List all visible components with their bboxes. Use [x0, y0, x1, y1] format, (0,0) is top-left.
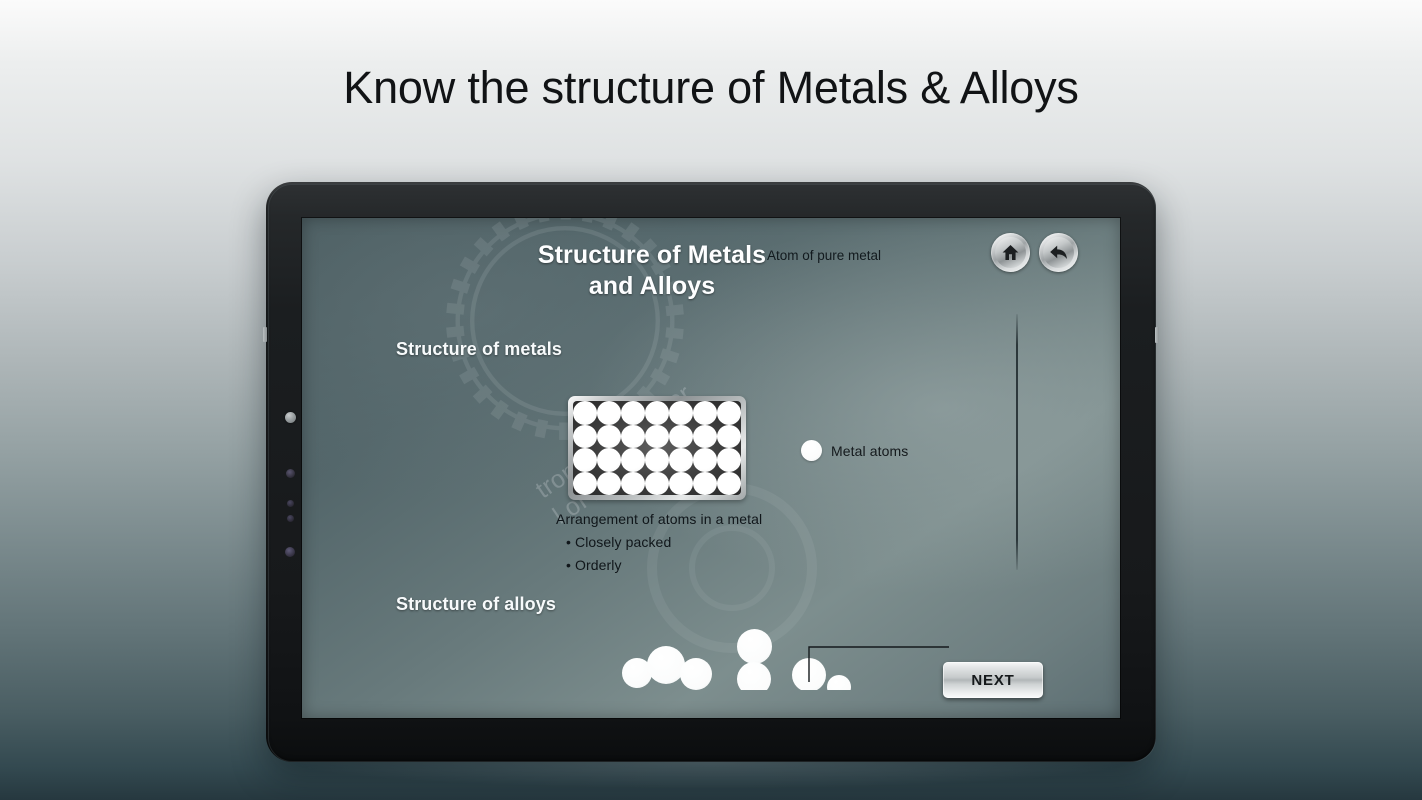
sensor-icon: [287, 500, 294, 507]
header-button-group: [991, 233, 1078, 272]
volume-button-right[interactable]: [1155, 327, 1159, 343]
volume-button-left[interactable]: [263, 327, 267, 342]
caption-bullet: • Closely packed: [556, 531, 762, 554]
metal-atom: [693, 401, 717, 425]
metal-atom: [573, 448, 597, 472]
metal-atom: [693, 425, 717, 449]
sensor-icon: [287, 515, 294, 522]
tablet-device: trons from outer l of metal atoms Struct…: [266, 182, 1156, 762]
scrollbar[interactable]: [1016, 314, 1018, 570]
tablet-reflection: [300, 762, 1120, 788]
next-button-label: NEXT: [971, 672, 1014, 689]
metal-atom: [621, 472, 645, 496]
screen-title-line-2: and Alloys: [302, 271, 1002, 302]
back-button[interactable]: [1039, 233, 1078, 272]
lattice-caption: Arrangement of atoms in a metal • Closel…: [556, 508, 762, 577]
back-arrow-icon: [1048, 242, 1069, 263]
metal-atom: [645, 472, 669, 496]
metal-atom: [645, 425, 669, 449]
page-title: Know the structure of Metals & Alloys: [0, 62, 1422, 114]
callout-label-pure-metal: Atom of pure metal: [767, 248, 881, 263]
alloy-atom: [737, 662, 771, 690]
metal-atom: [717, 425, 741, 449]
alloy-atom: [737, 629, 772, 664]
metal-atom: [621, 401, 645, 425]
metal-atom: [597, 425, 621, 449]
lattice-row: [573, 425, 741, 449]
legend-metal-atoms: Metal atoms: [801, 440, 908, 461]
caption-bullet: • Orderly: [556, 554, 762, 577]
lattice-row: [573, 472, 741, 496]
screen-title: Structure of Metals and Alloys: [302, 240, 1002, 302]
section-heading-alloys: Structure of alloys: [396, 594, 556, 615]
lattice-row: [573, 448, 741, 472]
metal-atom: [573, 401, 597, 425]
metal-atom: [717, 472, 741, 496]
metal-atom: [669, 425, 693, 449]
metal-atom: [717, 401, 741, 425]
home-icon: [1001, 243, 1020, 262]
alloy-structure-diagram: [482, 618, 982, 690]
metal-atom: [621, 448, 645, 472]
metal-atom: [669, 401, 693, 425]
alloy-atom: [647, 646, 685, 684]
lattice-row: [573, 401, 741, 425]
metal-atom: [693, 472, 717, 496]
legend-swatch-icon: [801, 440, 822, 461]
metal-lattice-diagram: [568, 396, 746, 500]
metal-atom: [597, 448, 621, 472]
metal-atom: [669, 448, 693, 472]
camera-icon: [285, 412, 296, 423]
page-root: Know the structure of Metals & Alloys: [0, 0, 1422, 800]
metal-atom: [717, 448, 741, 472]
caption-title: Arrangement of atoms in a metal: [556, 508, 762, 531]
callout-leader-line: [807, 644, 957, 684]
metal-atom: [597, 401, 621, 425]
sensor-icon: [286, 469, 295, 478]
next-button[interactable]: NEXT: [943, 662, 1043, 698]
alloy-atom: [680, 658, 712, 690]
metal-atom: [573, 472, 597, 496]
home-button[interactable]: [991, 233, 1030, 272]
legend-label: Metal atoms: [831, 443, 908, 459]
section-heading-metals: Structure of metals: [396, 339, 562, 360]
sensor-icon: [285, 547, 295, 557]
screen-title-line-1: Structure of Metals: [302, 240, 1002, 271]
metal-atom: [597, 472, 621, 496]
metal-atom: [573, 425, 597, 449]
metal-lattice-inner: [573, 401, 741, 495]
metal-atom: [645, 448, 669, 472]
metal-atom: [669, 472, 693, 496]
metal-atom: [645, 401, 669, 425]
metal-atom: [621, 425, 645, 449]
tablet-screen: trons from outer l of metal atoms Struct…: [302, 218, 1120, 718]
metal-atom: [693, 448, 717, 472]
